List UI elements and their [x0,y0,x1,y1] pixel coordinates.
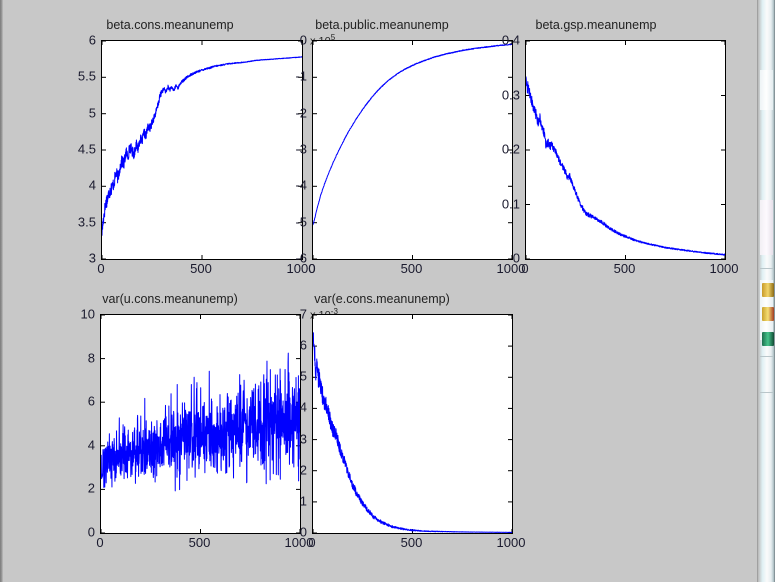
y-tick-label: -2 [272,105,307,120]
y-tick-label: -1 [272,69,307,84]
plot-axes[interactable] [312,314,513,534]
window-left-border [0,0,3,582]
x-tick-label: 0 [308,261,315,276]
y-tick-label: -4 [272,178,307,193]
y-tick-label: 0 [272,525,307,540]
y-tick-label: 6 [60,394,95,409]
y-tick-label: 5 [272,369,307,384]
plot-axes[interactable] [312,40,513,260]
y-tick-label: 4.5 [60,142,96,157]
y-tick-label: 3.5 [60,214,96,229]
x-tick-label: 0 [97,261,104,276]
subplot-beta-cons-meanunemp: beta.cons.meanunemp 33.544.555.560500100… [60,18,270,276]
y-tick-label: 0 [60,525,95,540]
subplot-var-e-cons-meanunemp: var(e.cons.meanunemp) x 10-3 01234567050… [272,292,484,550]
x-tick-label: 500 [190,261,212,276]
y-tick-label: 4 [272,400,307,415]
x-tick-label: 1000 [710,261,739,276]
sliver-document-icon[interactable] [762,307,774,321]
y-tick-label: 0 [486,251,520,266]
y-tick-label: 8 [60,350,95,365]
x-tick-label: 500 [189,535,211,550]
sliver-band-mid [760,200,773,255]
y-tick-label: 3 [272,431,307,446]
x-tick-label: 0 [96,535,103,550]
plot-title: var(e.cons.meanunemp) [280,292,484,306]
plot-title: var(u.cons.meanunemp) [68,292,272,306]
plot-axes[interactable] [100,314,301,534]
y-tick-label: 1 [272,493,307,508]
sliver-divider-3 [760,392,773,393]
y-tick-label: 0.2 [486,142,520,157]
subplot-beta-gsp-meanunemp: beta.gsp.meanunemp 00.10.20.30.405001000 [486,18,698,276]
x-tick-label: 500 [401,535,423,550]
sliver-band-top [760,70,773,110]
y-tick-label: 4 [60,437,95,452]
matlab-figure-window: beta.cons.meanunemp 33.544.555.560500100… [0,0,775,582]
y-tick-label: 0.4 [486,33,520,48]
y-tick-label: 0 [272,33,307,48]
y-tick-label: 7 [272,307,307,322]
subplot-var-u-cons-meanunemp: var(u.cons.meanunemp) 024681005001000 [60,292,270,550]
x-tick-label: 500 [401,261,423,276]
subplot-beta-public-meanunemp: beta.public.meanunemp x 105 -6-5-4-3-2-1… [272,18,484,276]
x-tick-label: 500 [614,261,636,276]
y-tick-label: 6 [60,33,96,48]
x-tick-label: 0 [521,261,528,276]
sliver-spreadsheet-icon[interactable] [762,332,774,346]
y-tick-label: -5 [272,214,307,229]
y-tick-label: 10 [60,307,95,322]
y-tick-label: 6 [272,338,307,353]
y-tick-label: 2 [272,462,307,477]
plot-axes[interactable] [525,40,726,260]
sliver-divider-1 [760,268,773,269]
y-tick-label: 5 [60,105,96,120]
y-tick-label: 5.5 [60,69,96,84]
x-tick-label: 0 [308,535,315,550]
plot-title: beta.cons.meanunemp [70,18,270,32]
y-tick-label: 0.3 [486,87,520,102]
plot-title: beta.public.meanunemp [280,18,484,32]
background-window-sliver[interactable] [757,0,775,582]
y-tick-label: 2 [60,481,95,496]
plot-title: beta.gsp.meanunemp [494,18,698,32]
y-tick-label: 4 [60,178,96,193]
sliver-folder-icon[interactable] [762,283,774,297]
y-tick-label: 3 [60,251,96,266]
x-tick-label: 1000 [497,535,526,550]
y-tick-label: -6 [272,251,307,266]
y-tick-label: -3 [272,142,307,157]
sliver-divider-2 [760,356,773,357]
y-tick-label: 0.1 [486,196,520,211]
